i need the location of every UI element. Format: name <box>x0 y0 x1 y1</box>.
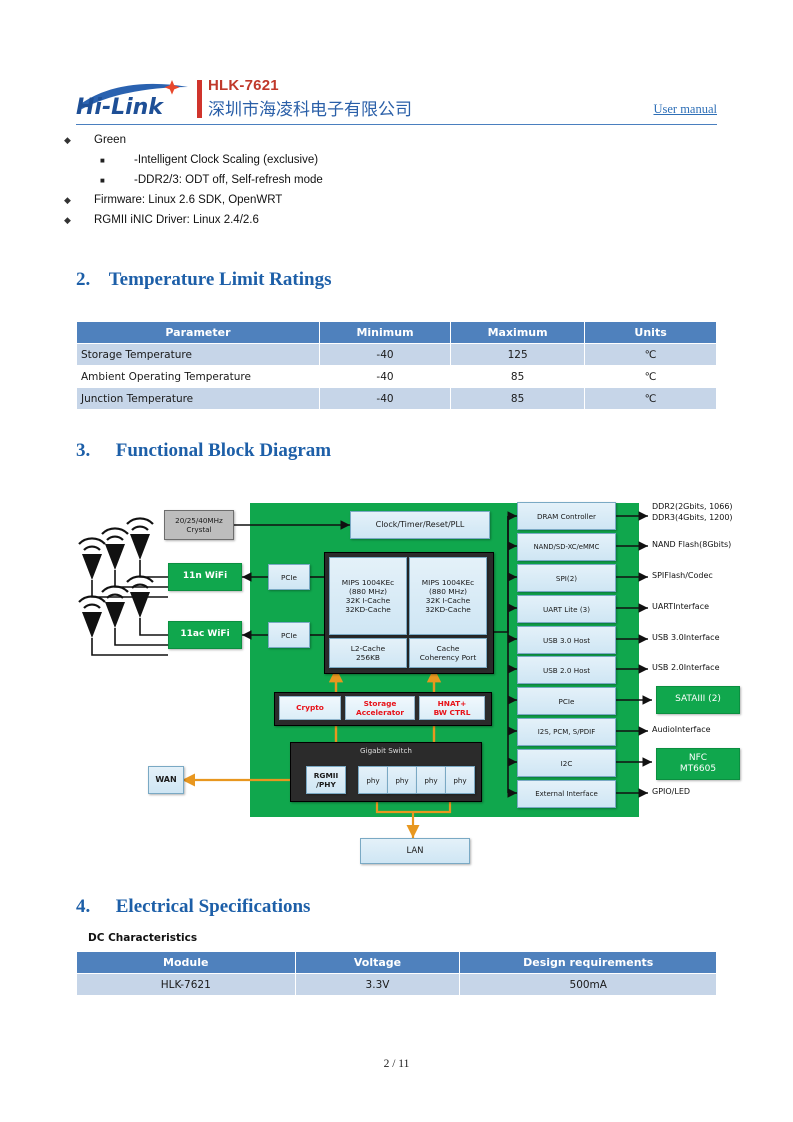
storage-acc-line2: Accelerator <box>356 708 404 717</box>
ext-label-uart-interface: UARTInterface <box>652 602 709 613</box>
header-doc-type: User manual <box>653 102 717 117</box>
ccport-line2: Coherency Port <box>420 653 476 662</box>
wan-block: WAN <box>148 766 184 794</box>
section-number: 4. <box>76 896 90 918</box>
list-item: ■ -Intelligent Clock Scaling (exclusive) <box>64 154 664 174</box>
cpu-core-1-block: MIPS 1004KEc (880 MHz) 32K I-Cache 32KD-… <box>409 557 487 635</box>
header-model: HLK-7621 <box>208 77 279 94</box>
storage-accelerator-block: Storage Accelerator <box>345 696 415 720</box>
cpu1-line2: (880 MHz) <box>429 587 467 596</box>
wifi-11ac-block: 11ac WiFi <box>168 621 242 649</box>
rgmii-line2: /PHY <box>316 780 336 789</box>
cell-maximum: 125 <box>451 344 585 366</box>
functional-block-diagram: 20/25/40MHz Crystal 11n WiFi 11ac WiFi P… <box>60 480 740 870</box>
i2s-pcm-spdif-block: I2S, PCM, S/PDIF <box>517 718 616 746</box>
table-row: Storage Temperature -40 125 ℃ <box>77 344 717 366</box>
usb30-host-block: USB 3.0 Host <box>517 626 616 654</box>
cpu1-line3: 32K I-Cache <box>426 596 470 605</box>
crystal-line1: 20/25/40MHz <box>175 516 223 525</box>
rgmii-phy-block: RGMII /PHY <box>306 766 346 794</box>
cell-parameter: Junction Temperature <box>77 388 320 410</box>
spi-block: SPI(2) <box>517 564 616 592</box>
cell-module: HLK-7621 <box>77 974 296 996</box>
uart-lite-block: UART Lite (3) <box>517 595 616 623</box>
ext-label-usb20-interface: USB 2.0Interface <box>652 663 720 674</box>
col-units: Units <box>585 322 717 344</box>
diamond-bullet-icon: ◆ <box>64 135 94 146</box>
svg-text:Hi-Link: Hi-Link <box>76 95 164 118</box>
list-item: ◆ Green <box>64 134 664 154</box>
cpu0-line2: (880 MHz) <box>349 587 387 596</box>
dc-characteristics-table: Module Voltage Design requirements HLK-7… <box>76 951 717 996</box>
table-header-row: Module Voltage Design requirements <box>77 952 717 974</box>
col-minimum: Minimum <box>319 322 450 344</box>
diamond-bullet-icon: ◆ <box>64 215 94 226</box>
cell-minimum: -40 <box>319 344 450 366</box>
crystal-line2: Crystal <box>186 525 211 534</box>
cell-maximum: 85 <box>451 366 585 388</box>
list-item: ◆ Firmware: Linux 2.6 SDK, OpenWRT <box>64 194 664 214</box>
list-item: ■ -DDR2/3: ODT off, Self-refresh mode <box>64 174 664 194</box>
lan-block: LAN <box>360 838 470 864</box>
phy-block-3: phy <box>416 766 446 794</box>
storage-acc-line1: Storage <box>364 699 397 708</box>
ccport-line1: Cache <box>437 644 460 653</box>
ext-label-gpio-led: GPIO/LED <box>652 787 690 798</box>
cell-minimum: -40 <box>319 366 450 388</box>
ext-label-spi-flash-codec: SPIFlash/Codec <box>652 571 713 582</box>
col-maximum: Maximum <box>451 322 585 344</box>
cell-units: ℃ <box>585 388 717 410</box>
i2c-block: I2C <box>517 749 616 777</box>
usb20-host-block: USB 2.0 Host <box>517 656 616 684</box>
section-title: Functional Block Diagram <box>116 440 331 462</box>
l2cache-line2: 256KB <box>356 653 380 662</box>
cell-minimum: -40 <box>319 388 450 410</box>
sataiii-block: SATAIII (2) <box>656 686 740 714</box>
phy-block-2: phy <box>387 766 417 794</box>
cell-maximum: 85 <box>451 388 585 410</box>
cpu0-line4: 32KD-Cache <box>345 605 391 614</box>
feature-bullet-list: ◆ Green ■ -Intelligent Clock Scaling (ex… <box>64 134 664 234</box>
nfc-line1: NFC <box>689 753 707 764</box>
hnat-line1: HNAT+ <box>438 699 467 708</box>
cpu0-line1: MIPS 1004KEc <box>342 578 394 587</box>
cpu1-line1: MIPS 1004KEc <box>422 578 474 587</box>
cell-parameter: Storage Temperature <box>77 344 320 366</box>
wifi-11n-block: 11n WiFi <box>168 563 242 591</box>
cpu1-line4: 32KD-Cache <box>425 605 471 614</box>
section-title: Electrical Specifications <box>116 896 311 918</box>
ext-label-usb30-interface: USB 3.0Interface <box>652 633 720 644</box>
section-heading-block-diagram: 3. Functional Block Diagram <box>76 440 331 462</box>
hi-link-logo: Hi-Link <box>76 78 192 118</box>
ext-label-audio-interface: AudioInterface <box>652 725 711 736</box>
ext-label-ddr: DDR2(2Gbits, 1066) DDR3(4Gbits, 1200) <box>652 502 733 524</box>
cell-parameter: Ambient Operating Temperature <box>77 366 320 388</box>
section-heading-temperature: 2. Temperature Limit Ratings <box>76 269 331 291</box>
table-row: Ambient Operating Temperature -40 85 ℃ <box>77 366 717 388</box>
cell-design-requirements: 500mA <box>460 974 717 996</box>
table-header-row: Parameter Minimum Maximum Units <box>77 322 717 344</box>
section-number: 2. <box>76 269 90 291</box>
header-rule <box>76 124 717 125</box>
cell-units: ℃ <box>585 366 717 388</box>
l2-cache-block: L2-Cache 256KB <box>329 638 407 668</box>
cell-units: ℃ <box>585 344 717 366</box>
col-voltage: Voltage <box>295 952 460 974</box>
pcie-2-block: PCIe <box>268 622 310 648</box>
section-number: 3. <box>76 440 90 462</box>
dc-characteristics-label: DC Characteristics <box>88 932 197 944</box>
cell-voltage: 3.3V <box>295 974 460 996</box>
hnat-bw-ctrl-block: HNAT+ BW CTRL <box>419 696 485 720</box>
crypto-block: Crypto <box>279 696 341 720</box>
cpu-core-0-block: MIPS 1004KEc (880 MHz) 32K I-Cache 32KD-… <box>329 557 407 635</box>
phy-block-1: phy <box>358 766 388 794</box>
gigabit-switch-label: Gigabit Switch <box>291 746 481 755</box>
col-design-requirements: Design requirements <box>460 952 717 974</box>
list-item-label: -Intelligent Clock Scaling (exclusive) <box>134 154 318 166</box>
dram-controller-block: DRAM Controller <box>517 502 616 530</box>
cpu0-line3: 32K I-Cache <box>346 596 390 605</box>
section-title: Temperature Limit Ratings <box>109 269 332 291</box>
table-row: HLK-7621 3.3V 500mA <box>77 974 717 996</box>
list-item-label: RGMII iNIC Driver: Linux 2.4/2.6 <box>94 214 259 226</box>
pcie-peripheral-block: PCIe <box>517 687 616 715</box>
page-footer: 2 / 11 <box>0 1058 793 1070</box>
table-row: Junction Temperature -40 85 ℃ <box>77 388 717 410</box>
pcie-1-block: PCIe <box>268 564 310 590</box>
l2cache-line1: L2-Cache <box>351 644 385 653</box>
square-bullet-icon: ■ <box>100 156 134 165</box>
ext-ddr3: DDR3(4Gbits, 1200) <box>652 513 733 524</box>
list-item-label: -DDR2/3: ODT off, Self-refresh mode <box>134 174 323 186</box>
cache-coherency-port-block: Cache Coherency Port <box>409 638 487 668</box>
page-header: Hi-Link HLK-7621 深圳市海凌科电子有限公司 User manua… <box>76 76 717 124</box>
hnat-line2: BW CTRL <box>434 708 471 717</box>
list-item-label: Firmware: Linux 2.6 SDK, OpenWRT <box>94 194 282 206</box>
list-item-label: Green <box>94 134 126 146</box>
col-parameter: Parameter <box>77 322 320 344</box>
external-interface-block: External Interface <box>517 780 616 808</box>
header-divider-bar <box>197 80 202 118</box>
list-item: ◆ RGMII iNIC Driver: Linux 2.4/2.6 <box>64 214 664 234</box>
ext-label-nand-flash: NAND Flash(8Gbits) <box>652 540 731 551</box>
temperature-limit-table: Parameter Minimum Maximum Units Storage … <box>76 321 717 410</box>
phy-block-4: phy <box>445 766 475 794</box>
nand-sd-emmc-block: NAND/SD-XC/eMMC <box>517 533 616 561</box>
diamond-bullet-icon: ◆ <box>64 195 94 206</box>
crystal-block: 20/25/40MHz Crystal <box>164 510 234 540</box>
section-heading-electrical: 4. Electrical Specifications <box>76 896 310 918</box>
nfc-mt6605-block: NFC MT6605 <box>656 748 740 780</box>
clock-timer-reset-pll-block: Clock/Timer/Reset/PLL <box>350 511 490 539</box>
rgmii-line1: RGMII <box>314 771 339 780</box>
ext-ddr2: DDR2(2Gbits, 1066) <box>652 502 733 513</box>
col-module: Module <box>77 952 296 974</box>
document-page: Hi-Link HLK-7621 深圳市海凌科电子有限公司 User manua… <box>0 0 793 1122</box>
square-bullet-icon: ■ <box>100 176 134 185</box>
header-company-cn: 深圳市海凌科电子有限公司 <box>208 95 412 120</box>
nfc-line2: MT6605 <box>680 764 716 775</box>
